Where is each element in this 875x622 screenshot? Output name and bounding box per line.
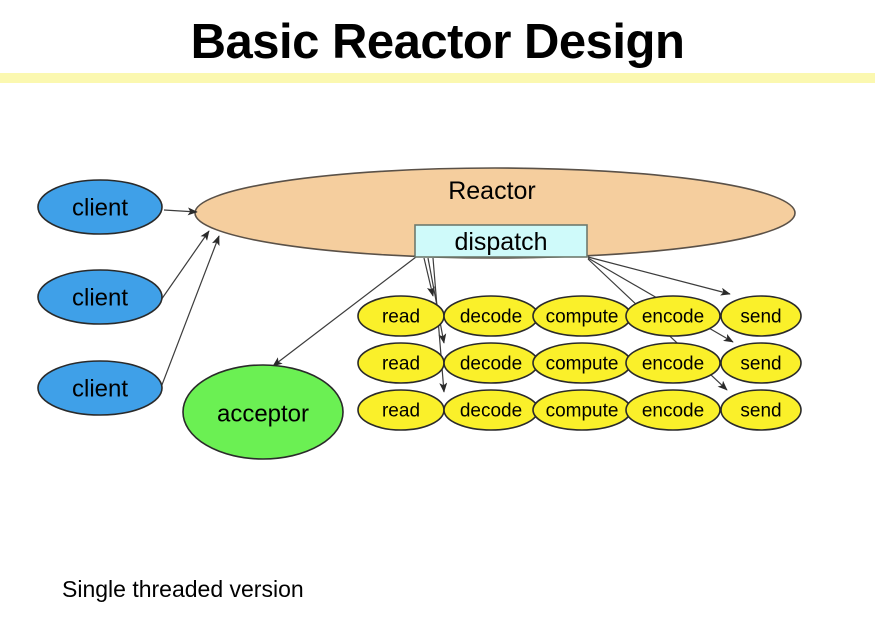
stage-node-decode-2[interactable]: decode (444, 343, 538, 383)
stage-label: encode (642, 307, 704, 328)
client-node-3[interactable]: client (38, 361, 162, 415)
footer-note: Single threaded version (62, 576, 304, 603)
stage-node-send-2[interactable]: send (721, 343, 801, 383)
stage-node-compute-2[interactable]: compute (533, 343, 631, 383)
client-node-1[interactable]: client (38, 180, 162, 234)
slide-canvas: Basic Reactor Design Reactor (0, 0, 875, 622)
client-label: client (72, 376, 128, 403)
stage-label: compute (546, 354, 619, 375)
stage-label: read (382, 307, 420, 328)
arrow-client-2-to-reactor (161, 231, 209, 300)
stage-label: compute (546, 307, 619, 328)
stage-label: encode (642, 401, 704, 422)
stage-node-compute-3[interactable]: compute (533, 390, 631, 430)
acceptor-label: acceptor (217, 401, 309, 428)
stage-node-decode-3[interactable]: decode (444, 390, 538, 430)
client-label: client (72, 285, 128, 312)
stage-node-read-1[interactable]: read (358, 296, 444, 336)
stage-node-read-3[interactable]: read (358, 390, 444, 430)
client-label: client (72, 195, 128, 222)
dispatch-node[interactable]: dispatch (415, 225, 587, 257)
arrow-dispatch-to-send-1 (588, 257, 730, 294)
stage-node-encode-3[interactable]: encode (626, 390, 720, 430)
stage-label: decode (460, 307, 522, 328)
stage-label: send (740, 307, 781, 328)
stage-node-decode-1[interactable]: decode (444, 296, 538, 336)
stage-label: decode (460, 354, 522, 375)
stage-label: send (740, 401, 781, 422)
stage-label: send (740, 354, 781, 375)
stage-node-send-1[interactable]: send (721, 296, 801, 336)
stage-node-encode-1[interactable]: encode (626, 296, 720, 336)
arrow-client-1-to-reactor (164, 210, 197, 212)
stage-node-send-3[interactable]: send (721, 390, 801, 430)
stage-label: encode (642, 354, 704, 375)
dispatch-label: dispatch (454, 228, 547, 256)
reactor-diagram: Reactor client client client (0, 0, 875, 622)
stage-label: read (382, 401, 420, 422)
acceptor-node[interactable]: acceptor (183, 365, 343, 459)
stage-node-encode-2[interactable]: encode (626, 343, 720, 383)
stage-node-compute-1[interactable]: compute (533, 296, 631, 336)
stage-label: compute (546, 401, 619, 422)
client-node-2[interactable]: client (38, 270, 162, 324)
stage-node-read-2[interactable]: read (358, 343, 444, 383)
stage-label: read (382, 354, 420, 375)
stage-label: decode (460, 401, 522, 422)
reactor-label: Reactor (448, 177, 536, 205)
